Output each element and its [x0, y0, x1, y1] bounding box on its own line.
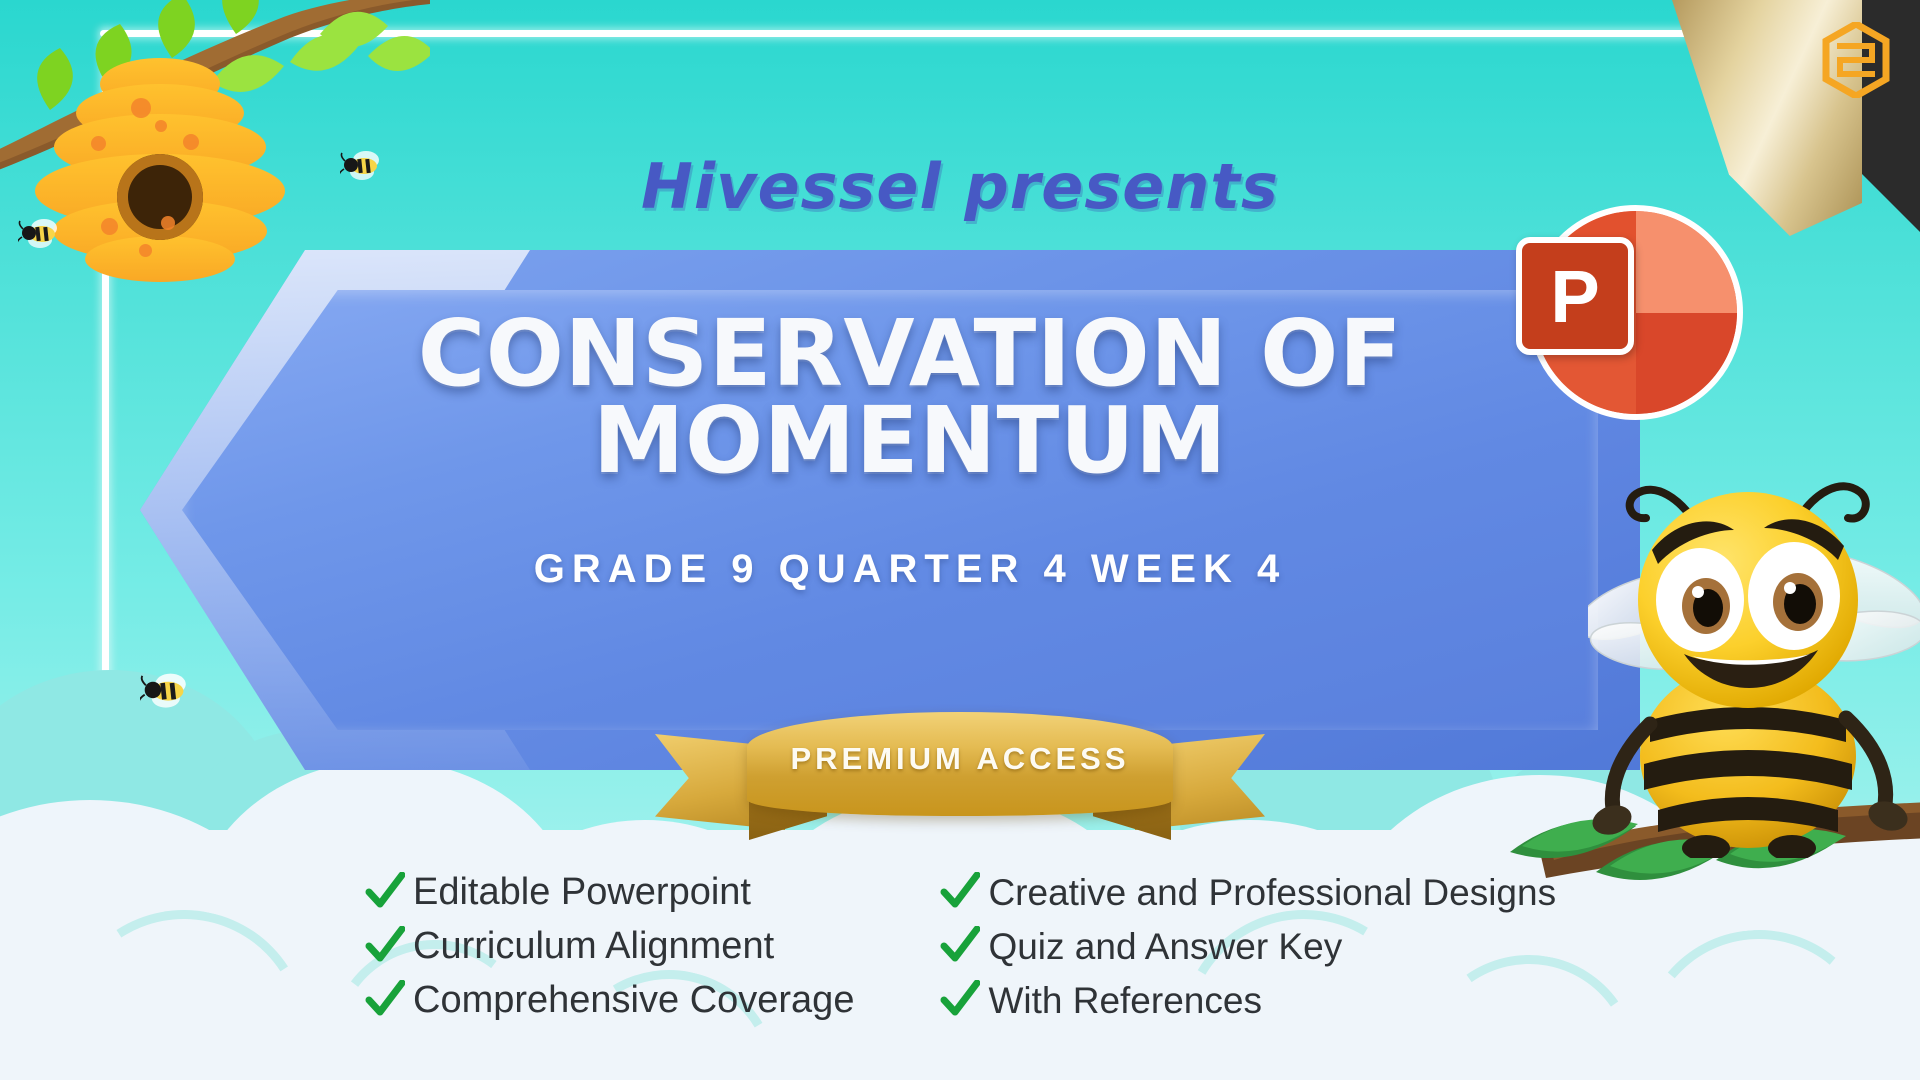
green-check-icon [365, 980, 405, 1020]
premium-ribbon: PREMIUM ACCESS [655, 712, 1265, 842]
list-item: With References [940, 980, 1556, 1020]
feature-label: With References [988, 982, 1262, 1019]
cloud-arc [1630, 920, 1888, 1080]
green-check-icon [940, 926, 980, 966]
green-check-icon [940, 980, 980, 1020]
bee-mascot-icon [1588, 438, 1920, 858]
grade-subtitle: GRADE 9 QUARTER 4 WEEK 4 [360, 547, 1460, 592]
feature-column-right: Creative and Professional Designs Quiz a… [940, 872, 1556, 1020]
feature-list: Editable Powerpoint Curriculum Alignment… [365, 872, 1625, 1020]
ribbon-band: PREMIUM ACCESS [747, 712, 1173, 816]
feature-label: Editable Powerpoint [413, 873, 751, 911]
list-item: Creative and Professional Designs [940, 872, 1556, 912]
feature-label: Quiz and Answer Key [988, 928, 1342, 965]
page-title-line1: CONSERVATION OF [360, 310, 1460, 397]
list-item: Editable Powerpoint [365, 872, 854, 912]
cloud-arc [37, 887, 331, 1080]
green-check-icon [365, 926, 405, 966]
list-item: Curriculum Alignment [365, 926, 854, 966]
green-check-icon [940, 872, 980, 912]
hexagon-logo-icon [1822, 22, 1890, 98]
cloud-icon [0, 800, 300, 1080]
title-block: CONSERVATION OF MOMENTUM GRADE 9 QUARTER… [360, 310, 1460, 592]
green-check-icon [365, 872, 405, 912]
feature-label: Comprehensive Coverage [413, 981, 854, 1019]
feature-label: Curriculum Alignment [413, 927, 774, 965]
powerpoint-letter: P [1516, 237, 1634, 355]
feature-label: Creative and Professional Designs [988, 874, 1556, 911]
list-item: Comprehensive Coverage [365, 980, 854, 1020]
title-banner: CONSERVATION OF MOMENTUM GRADE 9 QUARTER… [140, 250, 1640, 770]
list-item: Quiz and Answer Key [940, 926, 1556, 966]
ribbon-label: PREMIUM ACCESS [790, 741, 1129, 777]
page-title-line2: MOMENTUM [360, 397, 1460, 484]
powerpoint-icon: P [1528, 205, 1743, 420]
feature-column-left: Editable Powerpoint Curriculum Alignment… [365, 872, 854, 1020]
poster-canvas: Hivessel presents CONSERVATION OF MOMENT… [0, 0, 1920, 1080]
